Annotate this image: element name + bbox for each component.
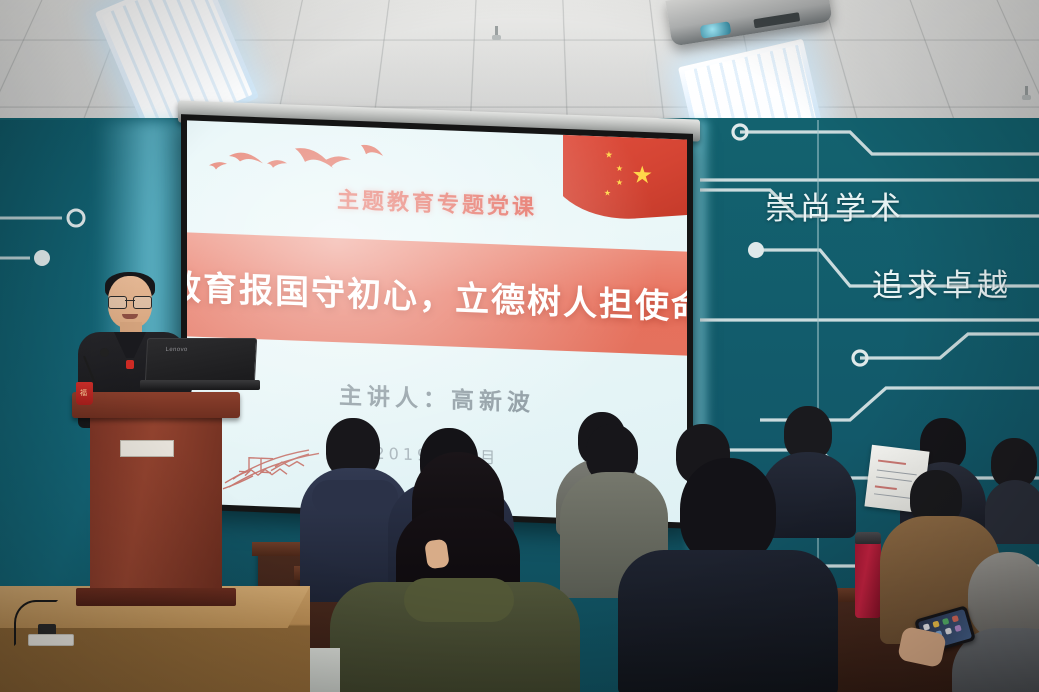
- phone-app-icon: [945, 627, 952, 634]
- circuit-node-ring: [68, 210, 84, 226]
- laptop-brand-label: Lenovo: [165, 347, 187, 353]
- slide-title: 教育报国守初心，立德树人担使命: [187, 259, 687, 329]
- laptop-base: [140, 380, 260, 390]
- thermos-cap: [855, 532, 881, 544]
- head-grey-hair: [968, 552, 1039, 640]
- sprinkler-head-left: [492, 26, 501, 42]
- laptop[interactable]: Lenovo: [140, 338, 258, 400]
- flag-star-small-2: ★: [616, 165, 623, 173]
- phone-app-icon: [952, 615, 959, 622]
- podium-name-plate: [120, 440, 174, 457]
- phone-app-icon: [954, 625, 961, 632]
- projector-vent: [753, 12, 800, 28]
- glasses-icon: [107, 296, 153, 307]
- red-thermos: [855, 540, 881, 618]
- audience-person-front: [330, 452, 580, 692]
- glasses-lens-left: [108, 296, 127, 309]
- sprinkler-head-right: [1022, 86, 1031, 102]
- flag-star-small-1: ★: [605, 150, 613, 159]
- projector-lens: [700, 21, 732, 39]
- flag-star-small-3: ★: [616, 179, 623, 187]
- circuit-node-dot: [748, 242, 764, 258]
- slide-title-band: 教育报国守初心，立德树人担使命: [187, 232, 687, 355]
- audience-person-front: [618, 458, 838, 692]
- shoulders: [618, 550, 838, 692]
- phone-app-icon: [942, 618, 949, 625]
- wall-slogan-top: 崇尚学术: [765, 183, 905, 228]
- red-cup: 福: [76, 382, 93, 405]
- lecture-hall-photo: 崇尚学术 追求卓越 ★ ★: [0, 0, 1039, 692]
- circuit-node-dot: [34, 250, 50, 266]
- sprinkler-cap: [1022, 95, 1031, 100]
- head: [680, 458, 776, 564]
- speaker-mouth: [122, 314, 138, 319]
- wall-slogan-bottom: 追求卓越: [872, 260, 1012, 305]
- glasses-bridge: [125, 300, 135, 301]
- podium-base: [76, 588, 236, 606]
- power-strip: [28, 634, 74, 646]
- laptop-lid: Lenovo: [145, 338, 257, 384]
- document-accent-line: [878, 460, 906, 465]
- sprinkler-cap: [492, 35, 501, 40]
- podium-top: [72, 392, 240, 418]
- glasses-lens-right: [133, 296, 152, 309]
- hand: [424, 539, 450, 570]
- phone-app-icon: [932, 621, 939, 628]
- hood: [404, 578, 514, 622]
- microphone-head: [100, 348, 109, 357]
- flag-star-large: ★: [631, 163, 653, 188]
- podium: [72, 392, 240, 626]
- cup-marking: 福: [80, 388, 87, 398]
